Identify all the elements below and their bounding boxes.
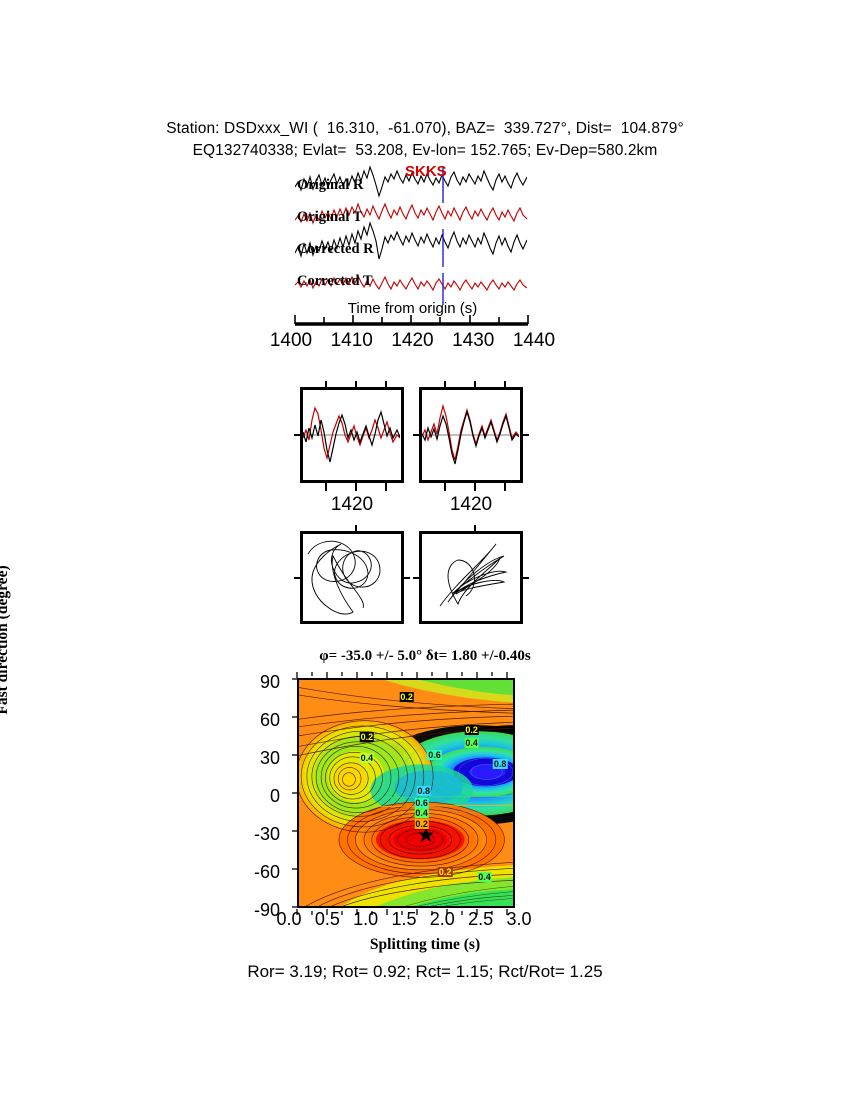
fast-slow-caption-uncorrected: 1420	[300, 494, 404, 516]
particle-motion-path-corrected	[422, 534, 519, 620]
particle-motion-corrected	[419, 531, 523, 624]
box-tick	[444, 381, 446, 389]
waveform-panel: SKKS Original R Original T Corrected R C…	[295, 165, 527, 310]
time-tick: 1440	[508, 330, 560, 352]
box-tick	[294, 434, 303, 436]
contour-axis-ticks	[292, 672, 520, 917]
contour-xlabel: Splitting time (s)	[0, 936, 850, 954]
ytick: 30	[232, 749, 280, 767]
quality-metrics-footer: Ror= 3.19; Rot= 0.92; Rct= 1.15; Rct/Rot…	[0, 962, 850, 982]
contour-ytick-labels: 90 60 30 0 -30 -60 -90	[230, 670, 288, 920]
trace-label-original-t: Original T	[297, 209, 362, 226]
time-tick: 1410	[326, 330, 378, 352]
box-tick	[520, 434, 529, 436]
box-tick	[504, 483, 506, 491]
box-tick	[474, 525, 476, 533]
box-tick	[325, 483, 327, 491]
box-tick	[444, 483, 446, 491]
trace-label-corrected-t: Corrected T	[297, 273, 373, 290]
fast-slow-caption-corrected: 1420	[419, 494, 523, 516]
time-axis-title: Time from origin (s)	[290, 300, 535, 317]
box-tick	[413, 577, 422, 579]
header-line-event: EQ132740338; Evlat= 53.208, Ev-lon= 152.…	[0, 140, 850, 162]
box-tick	[385, 381, 387, 389]
fast-slow-box-corrected	[419, 387, 523, 483]
header-line-station: Station: DSDxxx_WI ( 16.310, -61.070), B…	[0, 118, 850, 140]
box-tick	[355, 483, 357, 491]
ytick: 90	[232, 673, 280, 691]
box-tick	[474, 381, 476, 389]
splitting-result-title: φ= -35.0 +/- 5.0° δt= 1.80 +/-0.40s	[0, 648, 850, 665]
time-tick-labels: 1400 1410 1420 1430 1440	[265, 330, 560, 352]
particle-motion-uncorrected	[300, 531, 404, 624]
xtick: 1.0	[347, 909, 385, 930]
box-tick	[385, 483, 387, 491]
fast-slow-traces-uncorrected	[303, 390, 400, 479]
box-tick	[504, 381, 506, 389]
fast-slow-traces-corrected	[422, 390, 519, 479]
time-tick: 1420	[387, 330, 439, 352]
ytick: 60	[232, 711, 280, 729]
box-tick	[401, 577, 410, 579]
figure-header: Station: DSDxxx_WI ( 16.310, -61.070), B…	[0, 118, 850, 162]
box-tick	[355, 381, 357, 389]
xtick: 3.0	[500, 909, 538, 930]
fast-slow-box-uncorrected	[300, 387, 404, 483]
xtick: 0.5	[308, 909, 346, 930]
time-tick: 1400	[265, 330, 317, 352]
contour-xtick-labels: 0.0 0.5 1.0 1.5 2.0 2.5 3.0	[270, 909, 538, 930]
xtick: 2.5	[462, 909, 500, 930]
box-tick	[355, 525, 357, 533]
xtick: 0.0	[270, 909, 308, 930]
box-tick	[325, 381, 327, 389]
xtick: 2.0	[423, 909, 461, 930]
box-tick	[474, 483, 476, 491]
box-tick	[294, 577, 303, 579]
contour-ylabel: Fast direction (degree)	[0, 560, 12, 720]
ytick: 0	[232, 787, 280, 805]
trace-label-original-r: Original R	[297, 177, 363, 194]
xtick: 1.5	[385, 909, 423, 930]
skks-phase-label: SKKS	[405, 163, 447, 180]
particle-motion-path-uncorrected	[303, 534, 400, 620]
box-tick	[520, 577, 529, 579]
time-axis: Time from origin (s) 1400 1410 1420 1430…	[290, 304, 535, 359]
time-tick: 1430	[447, 330, 499, 352]
figure-canvas: Station: DSDxxx_WI ( 16.310, -61.070), B…	[0, 0, 850, 1100]
box-tick	[413, 434, 422, 436]
ytick: -30	[232, 825, 280, 843]
trace-label-corrected-r: Corrected R	[297, 241, 374, 258]
ytick: -60	[232, 863, 280, 881]
